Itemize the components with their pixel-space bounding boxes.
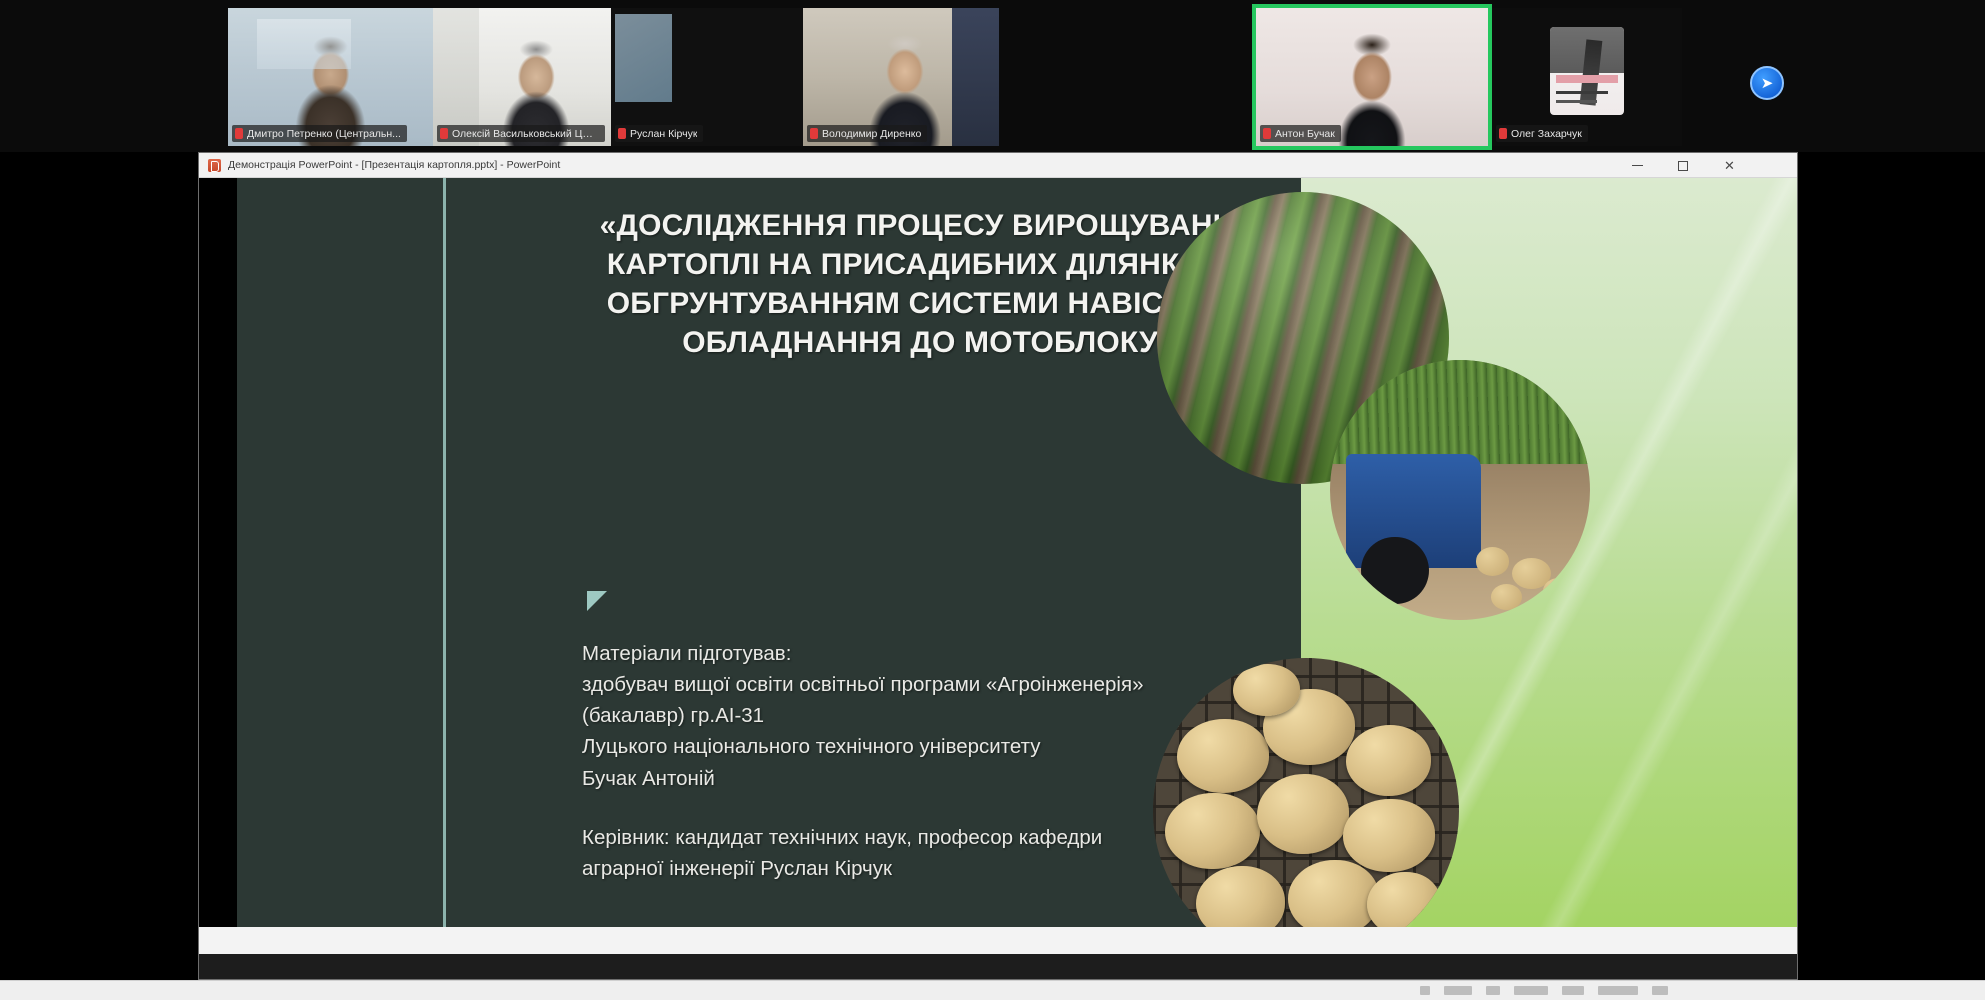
close-icon[interactable]: ✕	[1707, 153, 1752, 178]
participant-tile-2[interactable]: Олексій Васильковський ЦНТУ	[433, 8, 611, 146]
participant-name: Дмитро Петренко (Центральн...	[247, 128, 401, 140]
window-title: Демонстрація PowerPoint - [Презентація к…	[228, 159, 560, 171]
presentation-slide: «ДОСЛІДЖЕННЯ ПРОЦЕСУ ВИРОЩУВАННЯ КАРТОПЛ…	[237, 178, 1797, 954]
harvested-potatoes-photo	[1153, 658, 1459, 954]
powerpoint-icon	[208, 159, 221, 172]
participant-name: Антон Бучак	[1275, 128, 1335, 140]
powerpoint-window: Демонстрація PowerPoint - [Презентація к…	[198, 152, 1798, 980]
slideshow-stage[interactable]: «ДОСЛІДЖЕННЯ ПРОЦЕСУ ВИРОЩУВАННЯ КАРТОПЛ…	[199, 178, 1797, 954]
participant-name: Олексій Васильковський ЦНТУ	[452, 128, 599, 140]
video-participant-strip: Дмитро Петренко (Центральн... Олексій Ва…	[0, 0, 1985, 152]
participant-name-bar: Дмитро Петренко (Центральн...	[232, 125, 407, 142]
taskbar-clock[interactable]	[1598, 986, 1638, 995]
triangle-marker-icon	[587, 591, 607, 611]
participant-name-bar: Олексій Васильковський ЦНТУ	[437, 125, 605, 142]
participant-tile-3[interactable]: Руслан Кірчук	[611, 8, 803, 146]
participant-name: Володимир Диренко	[822, 128, 921, 140]
restore-icon[interactable]	[1660, 153, 1705, 178]
participant-name: Олег Захарчук	[1511, 128, 1582, 140]
participant-name-bar: Руслан Кірчук	[615, 125, 703, 142]
window-title-bar[interactable]: Демонстрація PowerPoint - [Презентація к…	[199, 153, 1797, 178]
participant-name-bar: Володимир Диренко	[807, 125, 927, 142]
participant-tile-1[interactable]: Дмитро Петренко (Центральн...	[228, 8, 433, 146]
mic-muted-icon	[618, 128, 626, 139]
walk-behind-tractor-photo	[1330, 360, 1590, 620]
slideshow-status-bar	[199, 927, 1797, 954]
mic-muted-icon	[1499, 128, 1507, 139]
participant-name-bar: Антон Бучак	[1260, 125, 1341, 142]
taskbar-item[interactable]	[1420, 986, 1430, 995]
taskbar-item[interactable]	[1486, 986, 1500, 995]
mic-muted-icon	[440, 128, 448, 139]
participant-tile-4[interactable]: Володимир Диренко	[803, 8, 999, 146]
minimize-icon[interactable]	[1615, 153, 1660, 178]
mic-muted-icon	[235, 128, 243, 139]
participant-tile-5-active-speaker[interactable]: Антон Бучак	[1252, 4, 1492, 150]
chevron-right-icon[interactable]: ➤	[1750, 66, 1784, 100]
windows-taskbar[interactable]	[0, 980, 1985, 1000]
participant-tile-6[interactable]: Олег Захарчук	[1492, 8, 1682, 146]
participant-name: Руслан Кірчук	[630, 128, 697, 140]
taskbar-item[interactable]	[1444, 986, 1472, 995]
slide-accent-line	[443, 178, 446, 954]
mic-muted-icon	[1263, 128, 1271, 139]
taskbar-item[interactable]	[1514, 986, 1548, 995]
mic-muted-icon	[810, 128, 818, 139]
taskbar-item[interactable]	[1652, 986, 1668, 995]
avatar	[1550, 27, 1624, 115]
taskbar-item[interactable]	[1562, 986, 1584, 995]
participant-name-bar: Олег Захарчук	[1496, 125, 1588, 142]
